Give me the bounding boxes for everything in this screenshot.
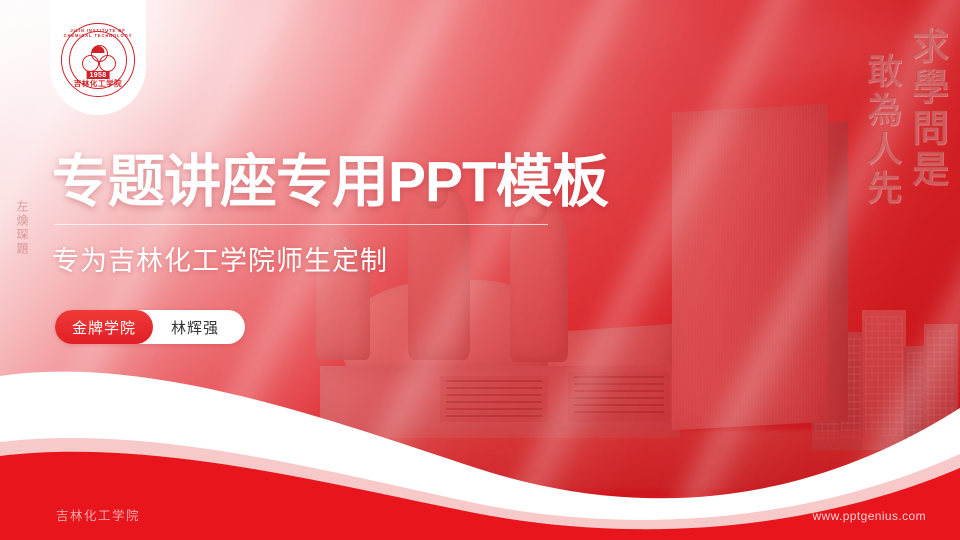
page-subtitle: 专为吉林化工学院师生定制 — [52, 239, 608, 278]
headline-block: 专题讲座专用PPT模板 专为吉林化工学院师生定制 — [52, 152, 608, 278]
seal-chinese-name: 吉林化工学院 — [62, 78, 134, 89]
footer-school-name: 吉林化工学院 — [56, 505, 140, 524]
seal-english-name: JILIN INSTITUTE OF CHEMICAL TECHNOLOGY — [62, 28, 134, 39]
logo-tab: JILIN INSTITUTE OF CHEMICAL TECHNOLOGY 1… — [50, 0, 146, 115]
seal-flask-emblem-icon — [81, 45, 115, 71]
calligraphy-signature: 左煥琛題 — [14, 200, 31, 256]
page-title: 专题讲座专用PPT模板 — [52, 152, 608, 212]
university-seal-icon: JILIN INSTITUTE OF CHEMICAL TECHNOLOGY 1… — [61, 23, 135, 97]
presenter-badge[interactable]: 金牌学院 林辉强 — [55, 310, 245, 344]
calligraphy-column-1: 求學問是 — [905, 26, 946, 208]
title-divider — [54, 224, 548, 225]
monument-calligraphy: 敢為人先 求學問是 — [861, 26, 946, 208]
badge-tag-label[interactable]: 金牌学院 — [55, 310, 153, 344]
flask-cap-icon — [92, 46, 105, 53]
footer-website[interactable]: www.pptgenius.com — [812, 509, 926, 523]
calligraphy-column-2: 敢為人先 — [861, 52, 900, 208]
ppt-title-slide: 敢為人先 求學問是 左煥琛題 JILIN INSTITUTE OF CHEMIC… — [0, 0, 960, 540]
badge-presenter-name: 林辉强 — [153, 317, 241, 338]
